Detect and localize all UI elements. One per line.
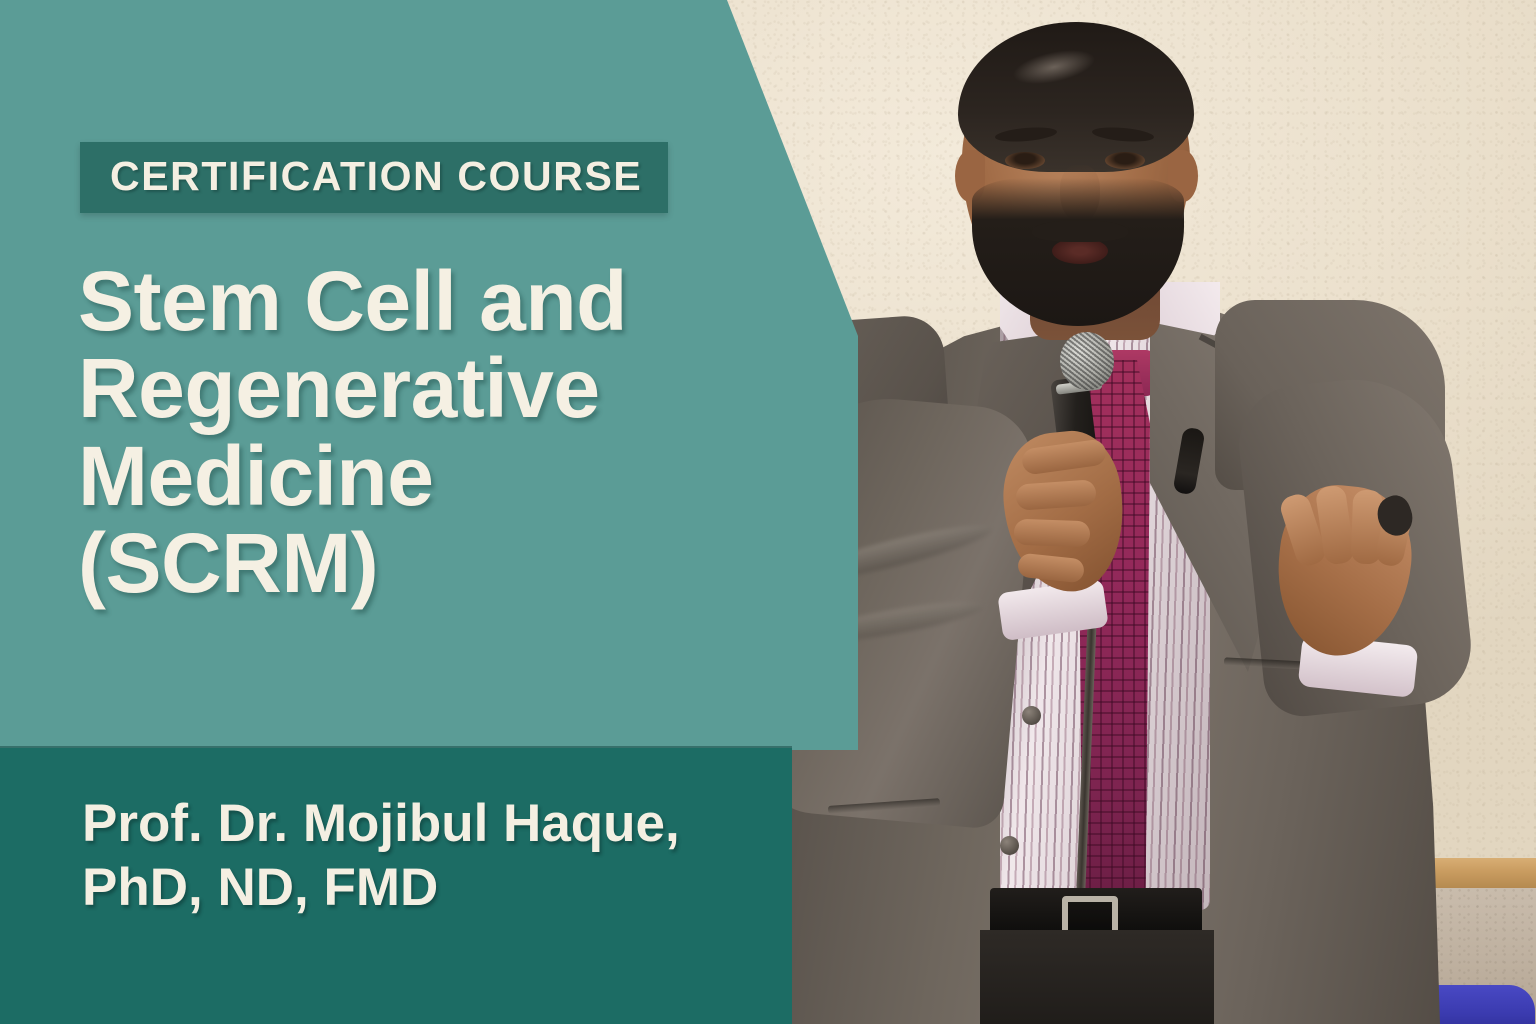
- course-promo-poster: CERTIFICATION COURSE Stem Cell and Regen…: [0, 0, 1536, 1024]
- course-title-line-2: Regenerative: [78, 345, 798, 432]
- mustache: [1032, 220, 1128, 242]
- course-title: Stem Cell and Regenerative Medicine (SCR…: [78, 258, 798, 607]
- presenter-name-line-1: Prof. Dr. Mojibul Haque,: [82, 792, 762, 856]
- hair: [958, 22, 1194, 172]
- suit-button-upper: [1022, 706, 1041, 725]
- course-title-line-1: Stem Cell and: [78, 258, 798, 345]
- finger: [1015, 479, 1097, 511]
- finger: [1014, 519, 1091, 548]
- eye-left: [1005, 152, 1045, 169]
- presenter-credentials: PhD, ND, FMD: [82, 856, 762, 920]
- certification-badge: CERTIFICATION COURSE: [80, 142, 668, 213]
- suit-button-lower: [1000, 836, 1019, 855]
- certification-badge-label: CERTIFICATION COURSE: [110, 156, 642, 197]
- course-title-line-4: (SCRM): [78, 520, 798, 607]
- course-title-line-3: Medicine: [78, 433, 798, 520]
- trousers: [980, 930, 1214, 1024]
- presenter-name: Prof. Dr. Mojibul Haque, PhD, ND, FMD: [82, 792, 762, 919]
- eye-right: [1105, 152, 1145, 169]
